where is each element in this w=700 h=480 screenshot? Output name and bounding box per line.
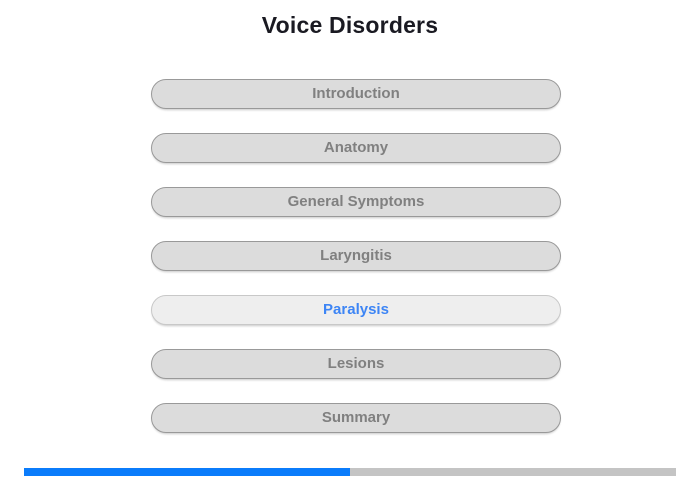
progress-bar-fill [24, 468, 350, 476]
menu-button-lesions[interactable]: Lesions [151, 349, 561, 379]
menu-button-laryngitis[interactable]: Laryngitis [151, 241, 561, 271]
menu-button-anatomy[interactable]: Anatomy [151, 133, 561, 163]
page-title: Voice Disorders [0, 10, 700, 40]
progress-bar-track[interactable] [24, 468, 676, 476]
menu-button-introduction[interactable]: Introduction [151, 79, 561, 109]
section-menu-list: Introduction Anatomy General Symptoms La… [151, 79, 561, 433]
menu-button-paralysis[interactable]: Paralysis [151, 295, 561, 325]
voice-disorders-menu-page: Voice Disorders Introduction Anatomy Gen… [0, 0, 700, 480]
menu-button-summary[interactable]: Summary [151, 403, 561, 433]
menu-button-general-symptoms[interactable]: General Symptoms [151, 187, 561, 217]
